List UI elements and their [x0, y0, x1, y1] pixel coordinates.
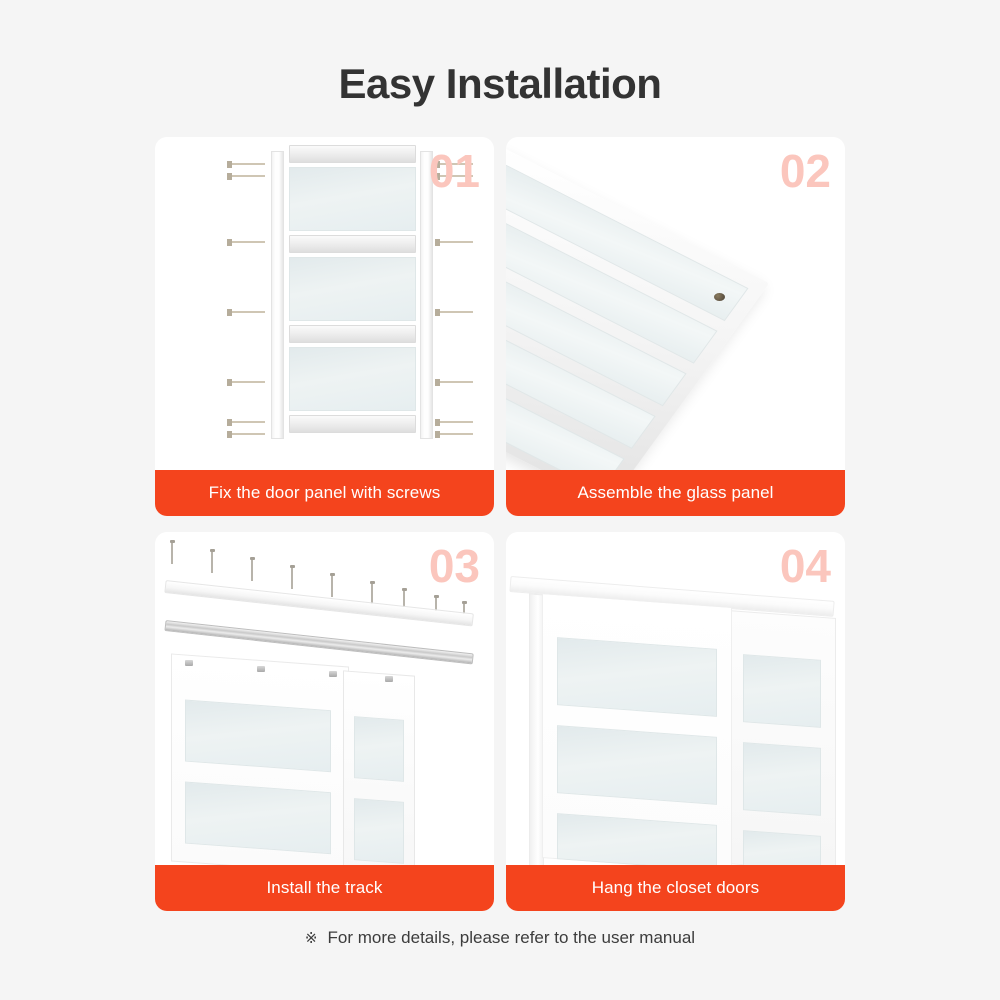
- door4-glass-back-2: [743, 742, 821, 816]
- footnote: ※For more details, please refer to the u…: [0, 928, 1000, 948]
- door4-glass-back-1: [743, 654, 821, 728]
- track-screw-1: [171, 542, 173, 564]
- door-handle-knob: [714, 293, 725, 301]
- step-02-illustration: 02: [506, 137, 845, 470]
- steps-grid: 01: [155, 137, 845, 915]
- step-04-caption-banner: Hang the closet doors: [506, 865, 845, 911]
- closet-door-back: [728, 610, 836, 865]
- page-title: Easy Installation: [0, 58, 1000, 110]
- footnote-text: For more details, please refer to the us…: [328, 928, 696, 947]
- step-number-01: 01: [429, 143, 480, 199]
- closet-door-front: [542, 593, 732, 865]
- step-number-04: 04: [780, 538, 831, 594]
- step-card-01[interactable]: 01: [155, 137, 494, 516]
- step-03-caption-banner: Install the track: [155, 865, 494, 911]
- sliding-door-front: [171, 653, 349, 865]
- door-stile-left: [271, 151, 284, 439]
- step-04-caption: Hang the closet doors: [592, 878, 759, 898]
- installation-guide-page: Easy Installation 01: [0, 0, 1000, 1000]
- step-card-02[interactable]: 02 Assemble the glass panel: [506, 137, 845, 516]
- step-number-02: 02: [780, 143, 831, 199]
- door-rail-2: [289, 235, 416, 253]
- door4-glass-front-2: [557, 725, 717, 805]
- step-number-03: 03: [429, 538, 480, 594]
- step-01-caption: Fix the door panel with screws: [209, 483, 441, 503]
- sliding-doors-assembly: [171, 660, 431, 865]
- door-rail-top: [289, 145, 416, 163]
- step-02-caption: Assemble the glass panel: [577, 483, 773, 503]
- track-screw-3: [251, 559, 253, 581]
- door-roller-4: [385, 676, 393, 682]
- door-rail-3: [289, 325, 416, 343]
- door4-glass-back-3: [743, 830, 821, 865]
- door-panel-exploded-diagram: [217, 145, 432, 441]
- door4-glass-front-3: [557, 813, 717, 865]
- door4-glass-front-1: [557, 637, 717, 717]
- door-glass-panel-1: [289, 167, 416, 231]
- track-screw-4: [291, 567, 293, 589]
- step-01-illustration: 01: [155, 137, 494, 470]
- step-03-caption: Install the track: [266, 878, 382, 898]
- door-glass-panel-3: [289, 347, 416, 411]
- step-card-03[interactable]: 03: [155, 532, 494, 911]
- reference-mark-icon: ※: [305, 930, 318, 947]
- door3-glass-3: [354, 716, 404, 782]
- door-roller-2: [257, 666, 265, 672]
- step-03-illustration: 03: [155, 532, 494, 865]
- door3-glass-4: [354, 798, 404, 864]
- door3-glass-1: [185, 699, 331, 772]
- door3-glass-2: [185, 781, 331, 854]
- step-01-caption-banner: Fix the door panel with screws: [155, 470, 494, 516]
- door-frame-iso: [506, 147, 769, 470]
- track-screw-2: [211, 551, 213, 573]
- sliding-door-back: [343, 670, 415, 865]
- door-rail-bottom: [289, 415, 416, 433]
- door-glass-panel-2: [289, 257, 416, 321]
- step-card-04[interactable]: 04 Hang the closet doors: [506, 532, 845, 911]
- step-02-caption-banner: Assemble the glass panel: [506, 470, 845, 516]
- door-roller-1: [185, 660, 193, 666]
- track-screw-5: [331, 575, 333, 597]
- step-04-illustration: 04: [506, 532, 845, 865]
- door-roller-3: [329, 671, 337, 677]
